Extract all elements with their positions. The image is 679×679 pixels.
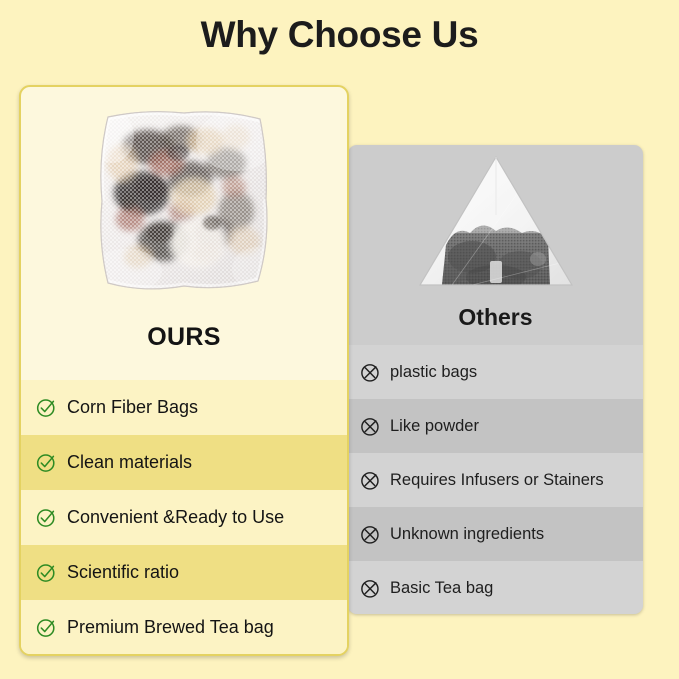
check-circle-icon <box>35 506 58 529</box>
list-item[interactable]: Basic Tea bag <box>348 561 643 614</box>
list-item-label: Convenient &Ready to Use <box>67 507 284 528</box>
list-item[interactable]: Premium Brewed Tea bag <box>21 600 347 655</box>
list-item[interactable]: Requires Infusers or Stainers <box>348 453 643 507</box>
list-item[interactable]: Scientific ratio <box>21 545 347 600</box>
square-mesh-tea-bag-icon <box>86 101 282 301</box>
cross-circle-icon <box>359 523 382 546</box>
others-card: Others plastic bags Like powder <box>348 145 643 614</box>
cross-circle-icon <box>359 415 382 438</box>
check-circle-icon <box>35 616 58 639</box>
list-item-label: Like powder <box>390 417 479 436</box>
ours-heading: OURS <box>21 323 347 352</box>
list-item[interactable]: Corn Fiber Bags <box>21 380 347 435</box>
ours-list: Corn Fiber Bags Clean materials Convenie… <box>21 380 347 655</box>
cross-circle-icon <box>359 469 382 492</box>
list-item[interactable]: Unknown ingredients <box>348 507 643 561</box>
others-list: plastic bags Like powder Requires Infuse… <box>348 345 643 614</box>
list-item-label: Unknown ingredients <box>390 525 544 544</box>
check-circle-icon <box>35 451 58 474</box>
ours-card: OURS Corn Fiber Bags Clean materials <box>19 85 349 656</box>
check-circle-icon <box>35 561 58 584</box>
list-item-label: Scientific ratio <box>67 562 179 583</box>
ours-product-image <box>21 93 347 308</box>
others-heading: Others <box>348 304 643 331</box>
comparison-area: Others plastic bags Like powder <box>0 0 679 679</box>
list-item[interactable]: Clean materials <box>21 435 347 490</box>
list-item[interactable]: plastic bags <box>348 345 643 399</box>
list-item-label: Basic Tea bag <box>390 579 493 598</box>
pyramid-tea-bag-icon <box>412 153 580 295</box>
list-item-label: Premium Brewed Tea bag <box>67 617 274 638</box>
check-circle-icon <box>35 396 58 419</box>
list-item-label: Clean materials <box>67 452 192 473</box>
list-item[interactable]: Convenient &Ready to Use <box>21 490 347 545</box>
list-item-label: Requires Infusers or Stainers <box>390 471 604 490</box>
cross-circle-icon <box>359 361 382 384</box>
list-item-label: plastic bags <box>390 363 477 382</box>
cross-circle-icon <box>359 577 382 600</box>
list-item[interactable]: Like powder <box>348 399 643 453</box>
others-product-image <box>348 149 643 299</box>
list-item-label: Corn Fiber Bags <box>67 397 198 418</box>
